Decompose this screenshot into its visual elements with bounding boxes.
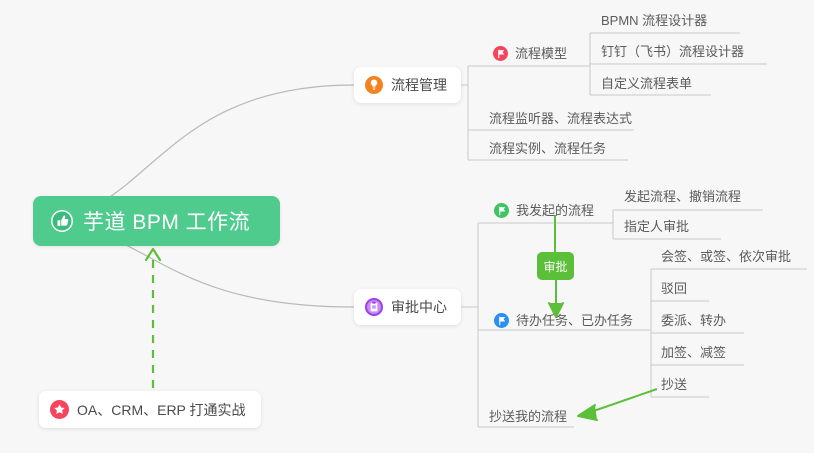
leaf-dingtalk-feishu-designer[interactable]: 钉钉（飞书）流程设计器 [601, 45, 744, 63]
leaf-label-start-cancel-process: 发起流程、撤销流程 [624, 190, 741, 203]
leaf-countersign-orsign-sequential[interactable]: 会签、或签、依次审批 [661, 250, 791, 268]
leaf-cc-to-me-process[interactable]: 抄送我的流程 [489, 410, 567, 428]
leaf-my-initiated-process[interactable]: 我发起的流程 [494, 203, 594, 223]
leaf-process-listener-expression[interactable]: 流程监听器、流程表达式 [489, 112, 632, 130]
leaf-label-todo-done-tasks: 待办任务、已办任务 [516, 314, 633, 327]
leaf-label-my-initiated-process: 我发起的流程 [516, 204, 594, 217]
leaf-process-instance-task[interactable]: 流程实例、流程任务 [489, 142, 606, 160]
callout-node-integration[interactable]: OA、CRM、ERP 打通实战 [39, 391, 261, 428]
carbon-copy-arrow [578, 389, 657, 420]
flag-red-icon [493, 46, 508, 61]
branch-node-process-management[interactable]: 流程管理 [354, 67, 461, 103]
leaf-delegate-transfer[interactable]: 委派、转办 [661, 314, 726, 332]
callout-label-integration: OA、CRM、ERP 打通实战 [77, 400, 246, 420]
leaf-process-model[interactable]: 流程模型 [493, 46, 567, 66]
leaf-custom-process-form[interactable]: 自定义流程表单 [601, 77, 692, 95]
branch-node-approval-center[interactable]: 审批中心 [354, 289, 461, 325]
branch-label-approval-center: 审批中心 [391, 297, 447, 317]
annotation-chip-approval: 审批 [537, 252, 574, 280]
leaf-label-process-model: 流程模型 [515, 47, 567, 60]
leaf-label-carbon-copy: 抄送 [661, 378, 687, 391]
leaf-label-dingtalk-feishu-designer: 钉钉（飞书）流程设计器 [601, 45, 744, 58]
clipboard-icon [365, 298, 383, 316]
leaf-bpmn-designer[interactable]: BPMN 流程设计器 [601, 14, 707, 32]
leaf-todo-done-tasks[interactable]: 待办任务、已办任务 [494, 313, 633, 333]
leaf-carbon-copy[interactable]: 抄送 [661, 378, 687, 396]
dashed-green-arrow [146, 249, 160, 388]
flag-blue-icon [494, 313, 509, 328]
leaf-label-designated-approver: 指定人审批 [624, 220, 689, 233]
annotation-chip-label: 审批 [543, 258, 567, 275]
lightbulb-icon [365, 76, 383, 94]
leaf-label-bpmn-designer: BPMN 流程设计器 [601, 14, 707, 27]
leaf-reject[interactable]: 驳回 [661, 282, 687, 300]
star-icon [50, 400, 69, 419]
root-node[interactable]: 芋道 BPM 工作流 [33, 196, 280, 246]
leaf-label-delegate-transfer: 委派、转办 [661, 314, 726, 327]
leaf-label-process-listener-expression: 流程监听器、流程表达式 [489, 112, 632, 125]
leaf-label-process-instance-task: 流程实例、流程任务 [489, 142, 606, 155]
leaf-label-cc-to-me-process: 抄送我的流程 [489, 410, 567, 423]
leaf-add-remove-sign[interactable]: 加签、减签 [661, 346, 726, 364]
leaf-designated-approver[interactable]: 指定人审批 [624, 220, 689, 238]
leaf-label-add-remove-sign: 加签、减签 [661, 346, 726, 359]
leaf-start-cancel-process[interactable]: 发起流程、撤销流程 [624, 190, 741, 208]
leaf-label-custom-process-form: 自定义流程表单 [601, 77, 692, 90]
root-label: 芋道 BPM 工作流 [83, 206, 250, 236]
mindmap-canvas: 芋道 BPM 工作流 流程管理 审批中心 [0, 0, 814, 453]
thumbs-up-icon [50, 209, 74, 233]
leaf-label-reject: 驳回 [661, 282, 687, 295]
flag-green-icon [494, 203, 509, 218]
branch-label-process-management: 流程管理 [391, 75, 447, 95]
leaf-label-countersign-orsign-sequential: 会签、或签、依次审批 [661, 250, 791, 263]
